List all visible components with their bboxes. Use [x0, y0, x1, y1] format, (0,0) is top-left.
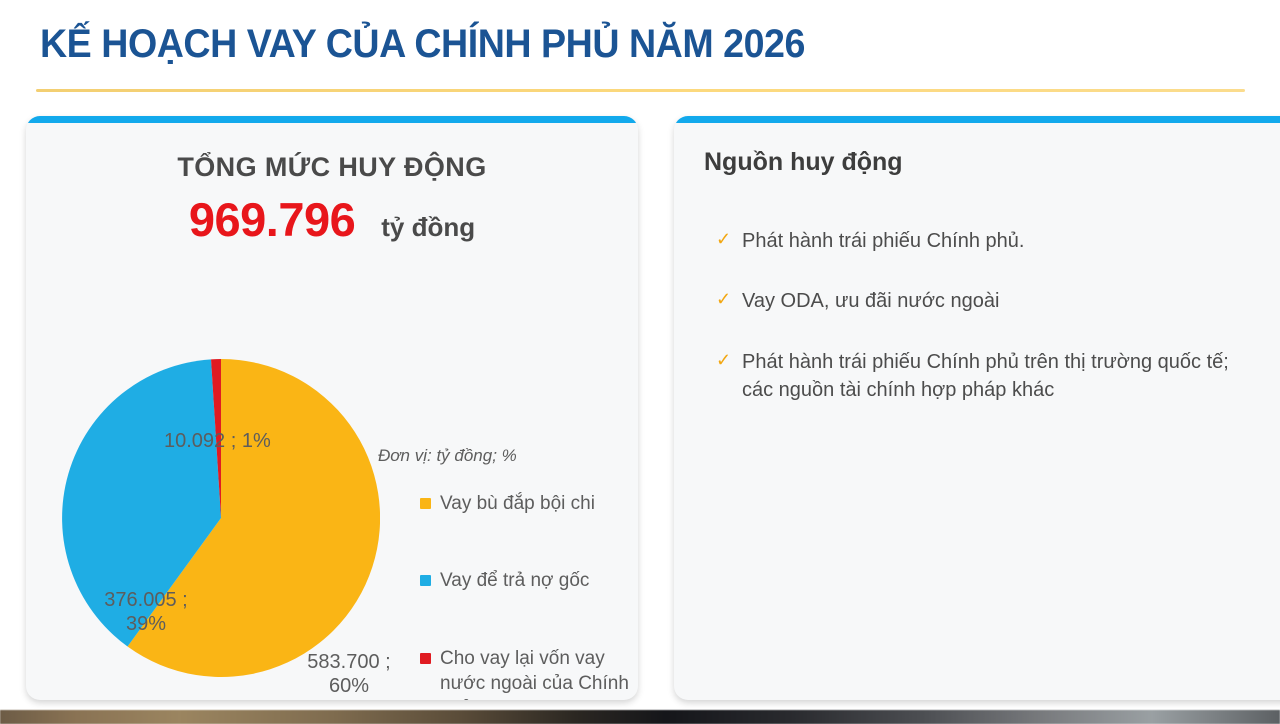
- funding-sources-list: ✓ Phát hành trái phiếu Chính phủ. ✓ Vay …: [716, 227, 1258, 405]
- check-icon: ✓: [716, 287, 736, 313]
- pie-label-vay-bu-dap-boi-chi: 583.700 ; 60%: [279, 650, 419, 699]
- kpi-unit: tỷ đồng: [381, 212, 475, 243]
- list-item: ✓ Phát hành trái phiếu Chính phủ.: [716, 227, 1258, 255]
- bottom-photo-strip: [0, 710, 1280, 724]
- pie-label-vay-tra-no-goc: 376.005 ; 39%: [76, 588, 216, 637]
- list-item-label: Phát hành trái phiếu Chính phủ trên thị …: [742, 348, 1257, 405]
- panel-heading: Nguồn huy động: [704, 148, 903, 177]
- legend-swatch-icon: [420, 498, 431, 509]
- check-icon: ✓: [716, 348, 736, 374]
- kpi-row: 969.796 tỷ đồng: [26, 192, 638, 247]
- kpi-value: 969.796: [189, 192, 355, 247]
- legend-swatch-icon: [420, 575, 431, 586]
- check-icon: ✓: [716, 227, 736, 253]
- pie-label-cho-vay-lai: 10.092 ; 1%: [164, 429, 271, 453]
- chart-legend: Vay bù đắp bội chi Vay để trả nợ gốc Cho…: [420, 491, 635, 700]
- slide-root: KẾ HOẠCH VAY CỦA CHÍNH PHỦ NĂM 2026 TỔNG…: [0, 0, 1280, 724]
- legend-item: Vay bù đắp bội chi: [420, 491, 635, 516]
- legend-item: Vay để trả nợ gốc: [420, 568, 635, 593]
- list-item-label: Phát hành trái phiếu Chính phủ.: [742, 227, 1024, 255]
- list-item-label: Vay ODA, ưu đãi nước ngoài: [742, 287, 999, 315]
- legend-label: Vay bù đắp bội chi: [440, 491, 595, 516]
- funding-sources-card: Nguồn huy động ✓ Phát hành trái phiếu Ch…: [674, 116, 1280, 700]
- page-title: KẾ HOẠCH VAY CỦA CHÍNH PHỦ NĂM 2026: [40, 22, 805, 67]
- legend-label: Cho vay lại vốn vay nước ngoài của Chính…: [440, 646, 635, 700]
- legend-item: Cho vay lại vốn vay nước ngoài của Chính…: [420, 646, 635, 700]
- title-divider: [36, 89, 1245, 92]
- list-item: ✓ Phát hành trái phiếu Chính phủ trên th…: [716, 348, 1258, 405]
- legend-label: Vay để trả nợ gốc: [440, 568, 589, 593]
- list-item: ✓ Vay ODA, ưu đãi nước ngoài: [716, 287, 1258, 315]
- legend-swatch-icon: [420, 653, 431, 664]
- kpi-label: TỔNG MỨC HUY ĐỘNG: [26, 152, 638, 183]
- chart-unit-note: Đơn vị: tỷ đồng; %: [378, 446, 517, 466]
- total-mobilization-card: TỔNG MỨC HUY ĐỘNG 969.796 tỷ đồng 10.092…: [26, 116, 638, 700]
